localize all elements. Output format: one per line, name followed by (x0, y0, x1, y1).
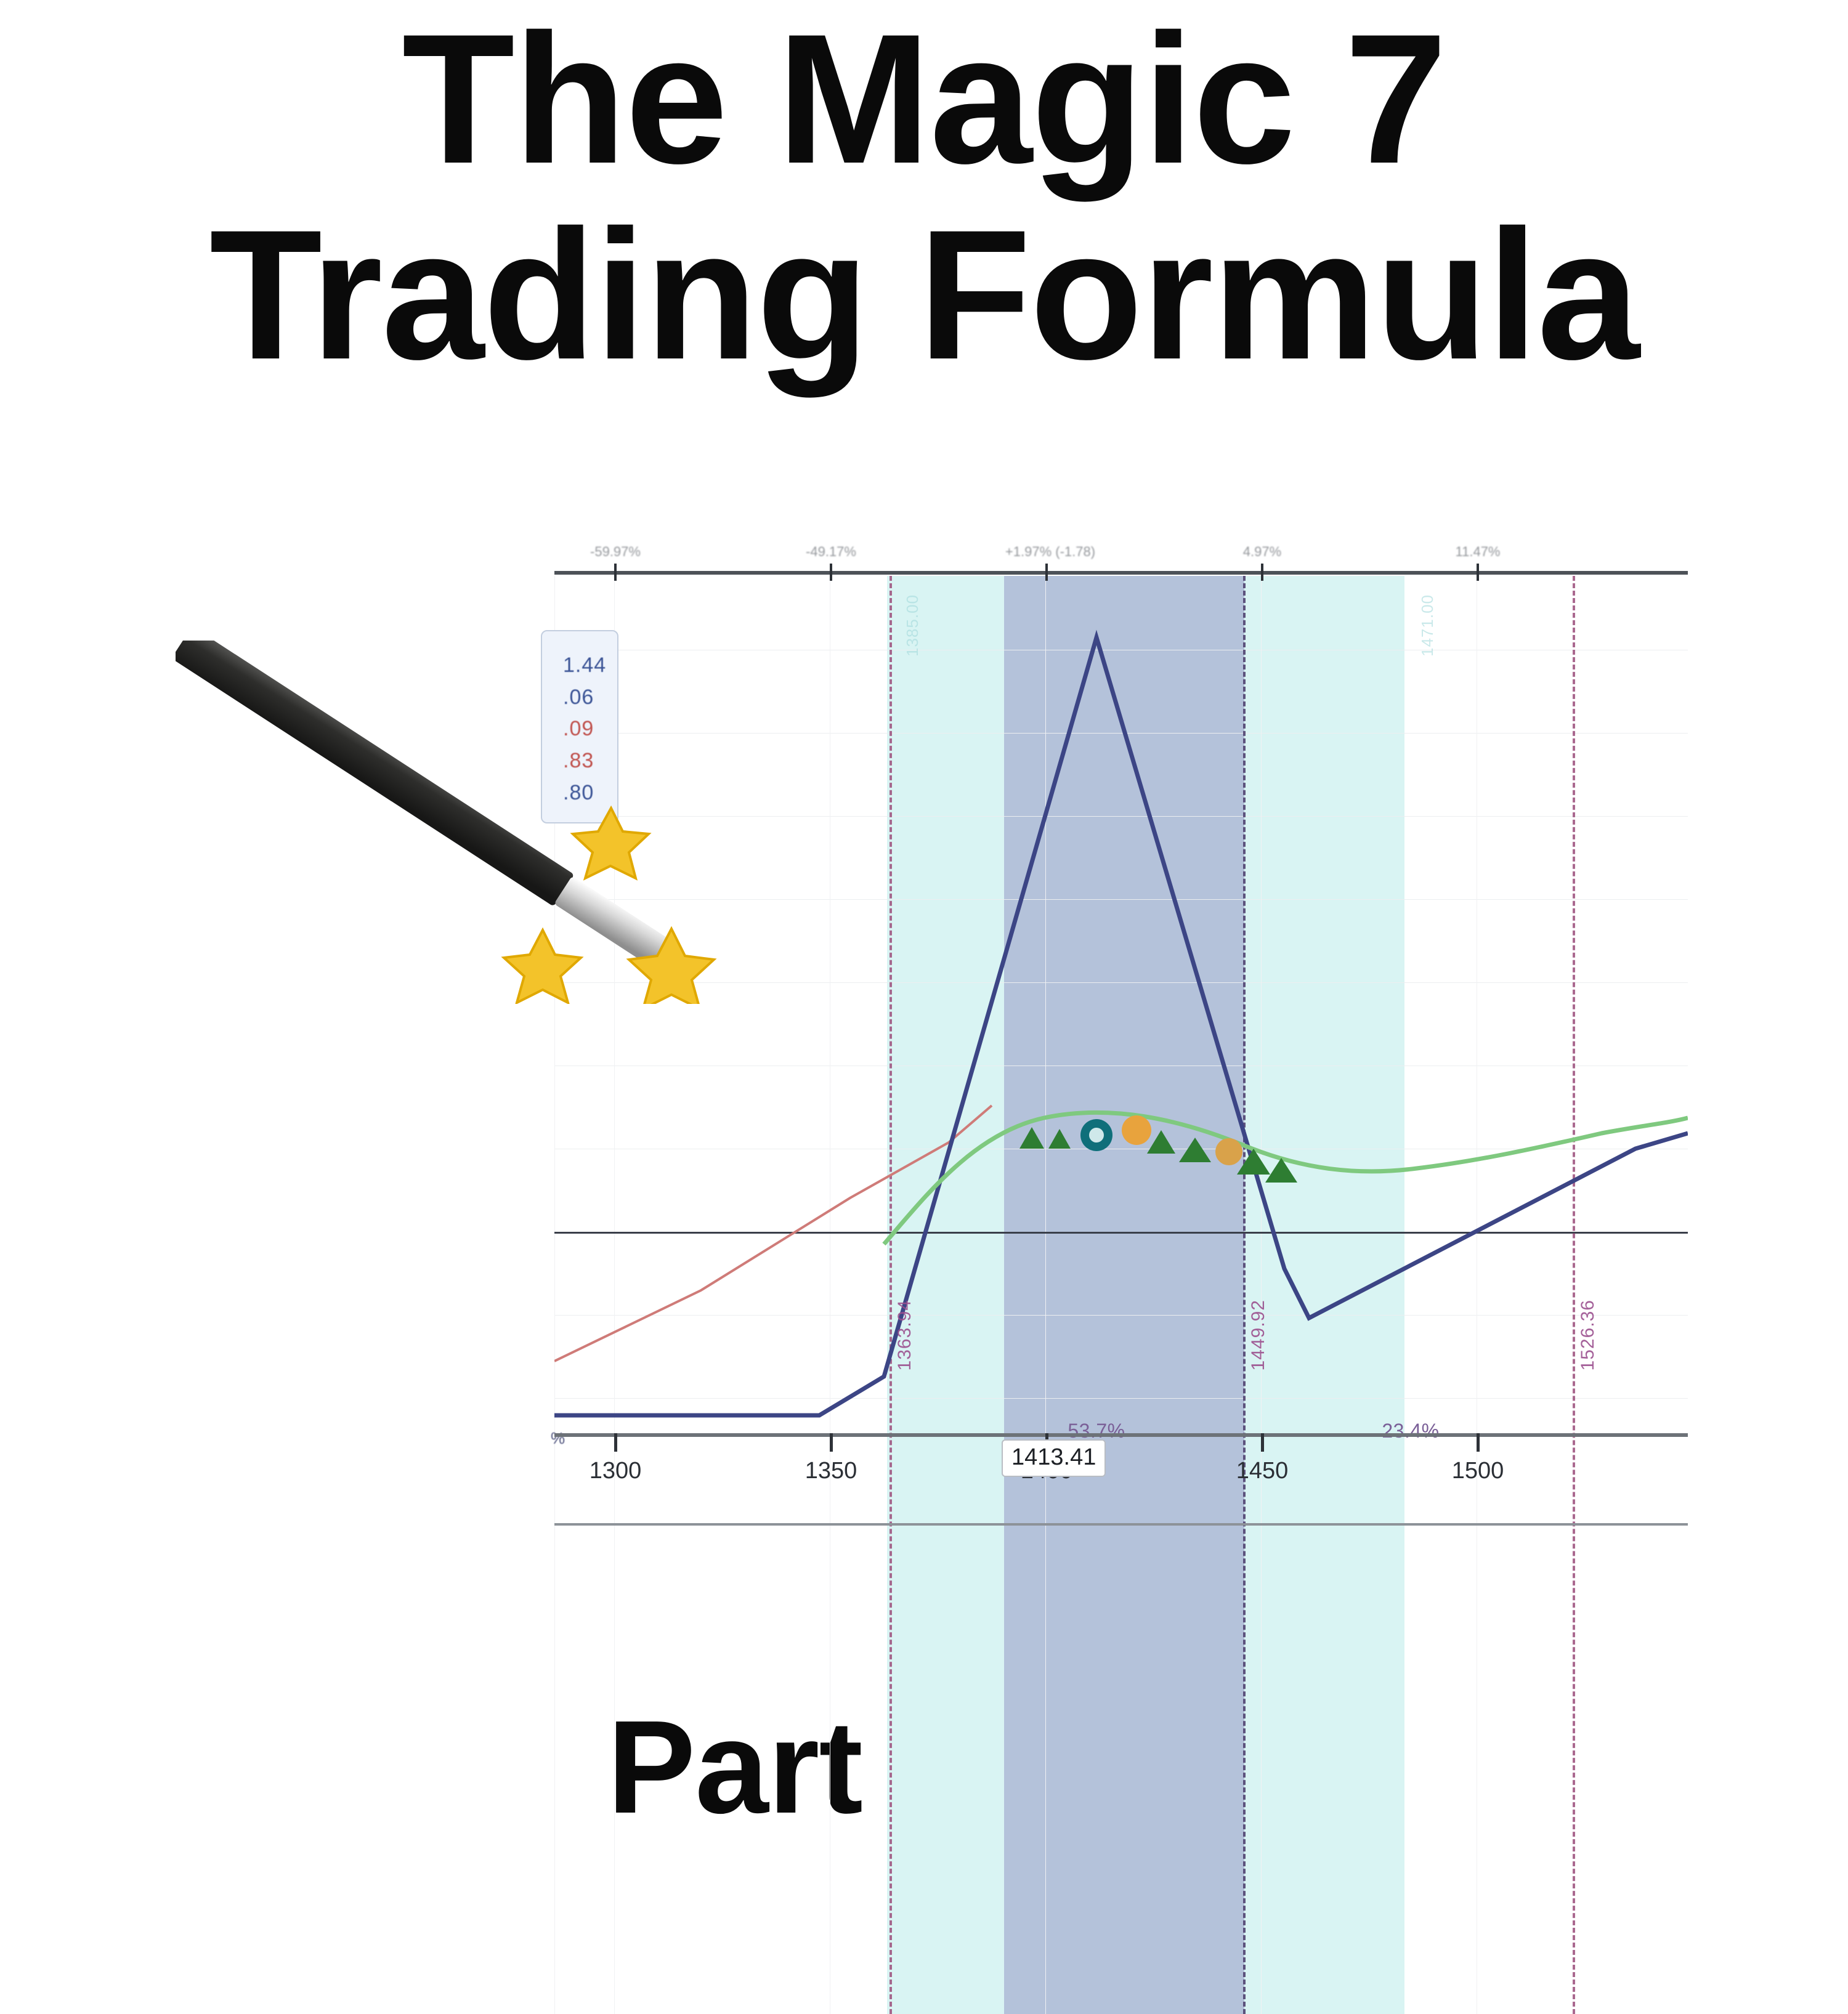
chart-xtick-label-1500: 1500 (1452, 1458, 1504, 1484)
chart-series-layer (554, 576, 1688, 1472)
chart-tick-top (1045, 564, 1048, 581)
chart-tick-bottom (614, 1433, 617, 1452)
chart-tick-bottom (830, 1433, 833, 1452)
page-title-line-2: Trading Formula (0, 202, 1848, 387)
circle-marker-icon (1122, 1115, 1151, 1145)
circle-marker-inner-icon (1089, 1128, 1104, 1142)
chart-tick-top (1261, 564, 1263, 581)
chart-xtick-label-1350: 1350 (805, 1458, 857, 1484)
chart-axis-top (554, 571, 1688, 575)
legend-value-4: .83 (542, 745, 617, 777)
circle-marker-icon (1215, 1138, 1242, 1165)
chart-axis-bottom (554, 1433, 1688, 1437)
chart-legend-values: 1.44 .06 .09 .83 .80 (541, 630, 618, 823)
wand-handle (176, 641, 575, 907)
triangle-up-icon (1048, 1129, 1071, 1149)
chart-left-mini-label: % (551, 1429, 565, 1448)
legend-value-2: .06 (542, 682, 617, 714)
series-path-payoff (554, 637, 1688, 1415)
chart-plot-area[interactable]: 1385.00 1471.00 1363.94 1449.92 1526.36 … (554, 576, 1688, 2014)
chart-tick-top (614, 564, 617, 581)
chart-axis-bottom-rule (554, 1523, 1688, 1526)
chart-tick-top (1477, 564, 1479, 581)
chart-band-label-1: 1385.00 (903, 594, 922, 657)
chart-tick-bottom (1261, 1433, 1264, 1452)
chart-marker-label-1526: 1526.36 (1578, 1300, 1599, 1370)
triangle-up-icon (1179, 1138, 1211, 1162)
triangle-up-icon (1019, 1127, 1044, 1149)
triangle-up-icon (1147, 1130, 1175, 1154)
chart-band-label-2: 1471.00 (1418, 594, 1437, 657)
chart-tick-bottom (1477, 1433, 1480, 1452)
legend-value-5: .80 (542, 777, 617, 809)
chart-tick-top (830, 564, 832, 581)
chart-toplabel-4: 4.97% (1243, 544, 1281, 560)
chart-toplabel-5: 11.47% (1456, 544, 1501, 560)
page-title-line-1: The Magic 7 (0, 6, 1848, 191)
payoff-chart[interactable]: 1385.00 1471.00 1363.94 1449.92 1526.36 … (554, 539, 1688, 1527)
chart-xtick-label-1450: 1450 (1236, 1458, 1289, 1484)
chart-marker-label-1449: 1449.92 (1248, 1300, 1269, 1370)
title-block: The Magic 7 Trading Formula (0, 6, 1848, 387)
legend-value-3: .09 (542, 713, 617, 745)
chart-marker-label-1363: 1363.94 (894, 1300, 915, 1370)
chart-toplabel-3: +1.97% (-1.78) (1005, 544, 1095, 560)
chart-xtick-label-1300: 1300 (590, 1458, 642, 1484)
chart-toplabel-1: -59.97% (590, 544, 641, 560)
chart-probability-label-2: 23.4% (1382, 1420, 1439, 1442)
chart-toplabel-2: -49.17% (806, 544, 856, 560)
legend-value-1: 1.44 (542, 650, 617, 682)
chart-cursor-tooltip[interactable]: 1413.41 (1002, 1439, 1106, 1477)
